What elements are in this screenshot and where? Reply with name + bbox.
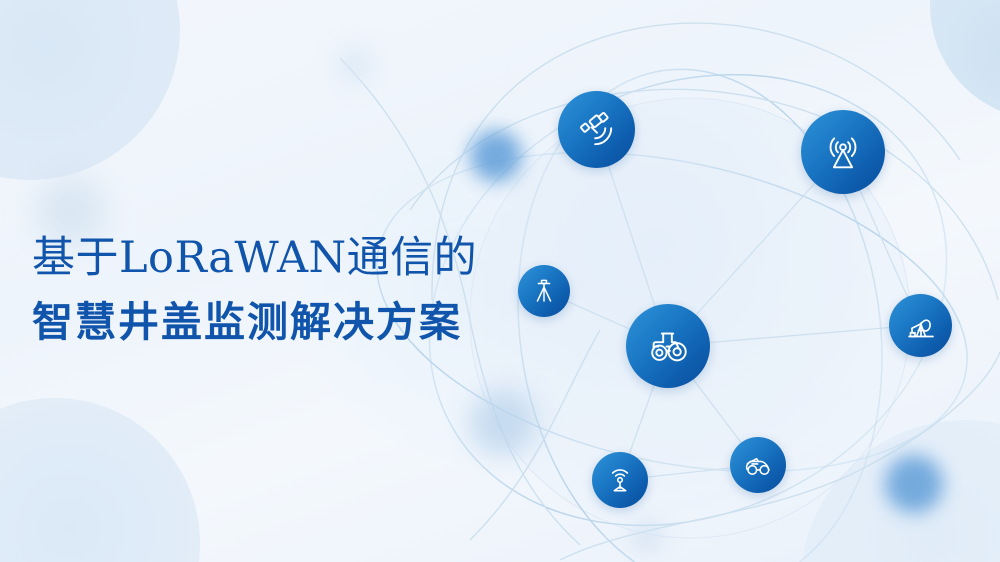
survey-tripod-icon (529, 276, 559, 306)
tractor-icon (645, 323, 691, 369)
node-tractor[interactable] (626, 304, 710, 388)
blob-top-right (930, 0, 1000, 120)
node-pumpjack[interactable] (889, 294, 952, 357)
accent-dot-upper-mid (470, 130, 522, 182)
node-antenna[interactable] (801, 110, 885, 194)
signal-beacon-icon (604, 464, 636, 496)
presentation-slide: 基于LoRaWAN通信的 智慧井盖监测解决方案 (0, 0, 1000, 562)
oil-pumpjack-icon (903, 308, 939, 344)
satellite-signal-icon (575, 108, 619, 152)
broadcast-antenna-icon (820, 129, 866, 175)
node-tripod[interactable] (518, 265, 570, 317)
harvester-vehicle-icon (741, 448, 775, 482)
node-satellite[interactable] (558, 91, 635, 168)
accent-dot-bottom (630, 520, 664, 554)
title-line-2: 智慧井盖监测解决方案 (32, 291, 477, 353)
blob-bottom-left (0, 398, 200, 562)
accent-dot-lower-right (885, 455, 943, 513)
accent-dot-mid-left (470, 390, 536, 456)
title-block: 基于LoRaWAN通信的 智慧井盖监测解决方案 (32, 226, 477, 354)
title-line-1: 基于LoRaWAN通信的 (32, 226, 477, 291)
node-harvester[interactable] (730, 437, 786, 493)
accent-dot-top (335, 45, 375, 85)
node-beacon[interactable] (592, 452, 648, 508)
blob-top-left (0, 0, 180, 180)
blob-bottom-right (800, 420, 1000, 562)
